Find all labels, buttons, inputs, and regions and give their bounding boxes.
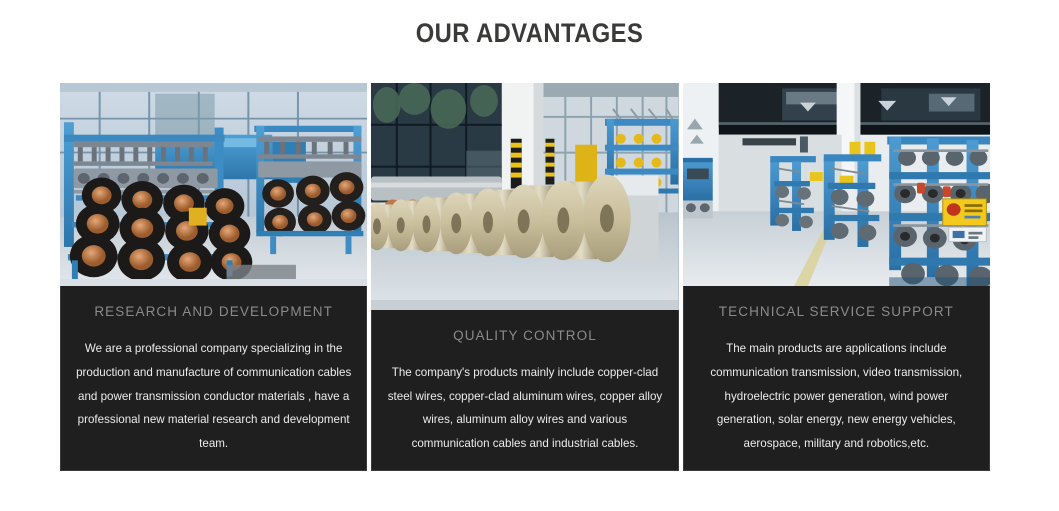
card-heading: TECHNICAL SERVICE SUPPORT [719,304,954,319]
advantage-card-technical-service-support[interactable]: TECHNICAL SERVICE SUPPORT The main produ… [683,83,990,471]
advantage-card-research-and-development[interactable]: RESEARCH AND DEVELOPMENT We are a profes… [60,83,367,471]
advantage-card-body: QUALITY CONTROL The company's products m… [371,310,678,471]
card-heading: QUALITY CONTROL [453,328,597,343]
advantage-card-body: TECHNICAL SERVICE SUPPORT The main produ… [683,286,990,471]
card-description: The main products are applications inclu… [698,337,975,456]
advantage-card-body: RESEARCH AND DEVELOPMENT We are a profes… [60,286,367,471]
card-description: The company's products mainly include co… [386,361,663,456]
factory-machine-line-photo [683,83,990,286]
card-heading: RESEARCH AND DEVELOPMENT [94,304,333,319]
advantage-card-quality-control[interactable]: QUALITY CONTROL The company's products m… [371,83,678,471]
card-description: We are a professional company specializi… [75,337,352,456]
page-title: OUR ADVANTAGES [64,0,996,47]
cable-drums-row-photo [371,83,678,310]
advantages-card-list: RESEARCH AND DEVELOPMENT We are a profes… [60,83,990,471]
factory-copper-spools-photo [60,83,367,286]
